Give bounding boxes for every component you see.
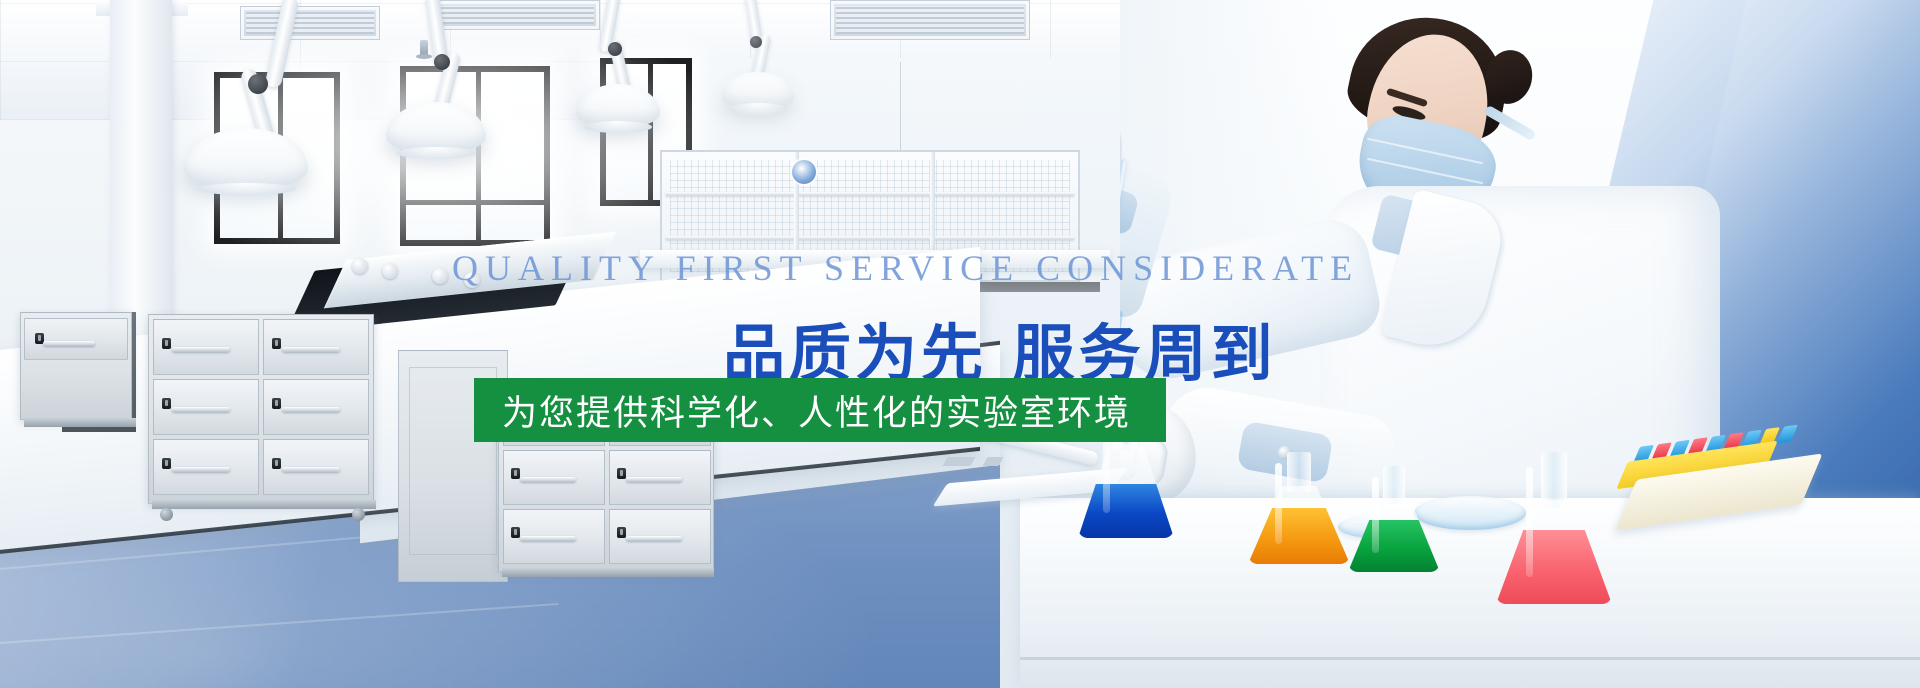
lab-hero-banner: QUALITY FIRST SERVICE CONSIDERATE 品质为先 服…	[0, 0, 1920, 688]
banner-subtitle-bar: 为您提供科学化、人性化的实验室环境	[474, 378, 1166, 442]
banner-eyebrow-text: QUALITY FIRST SERVICE CONSIDERATE	[452, 247, 1359, 289]
banner-copy: QUALITY FIRST SERVICE CONSIDERATE 品质为先 服…	[0, 0, 1920, 688]
banner-subtitle-text: 为您提供科学化、人性化的实验室环境	[474, 385, 1131, 436]
